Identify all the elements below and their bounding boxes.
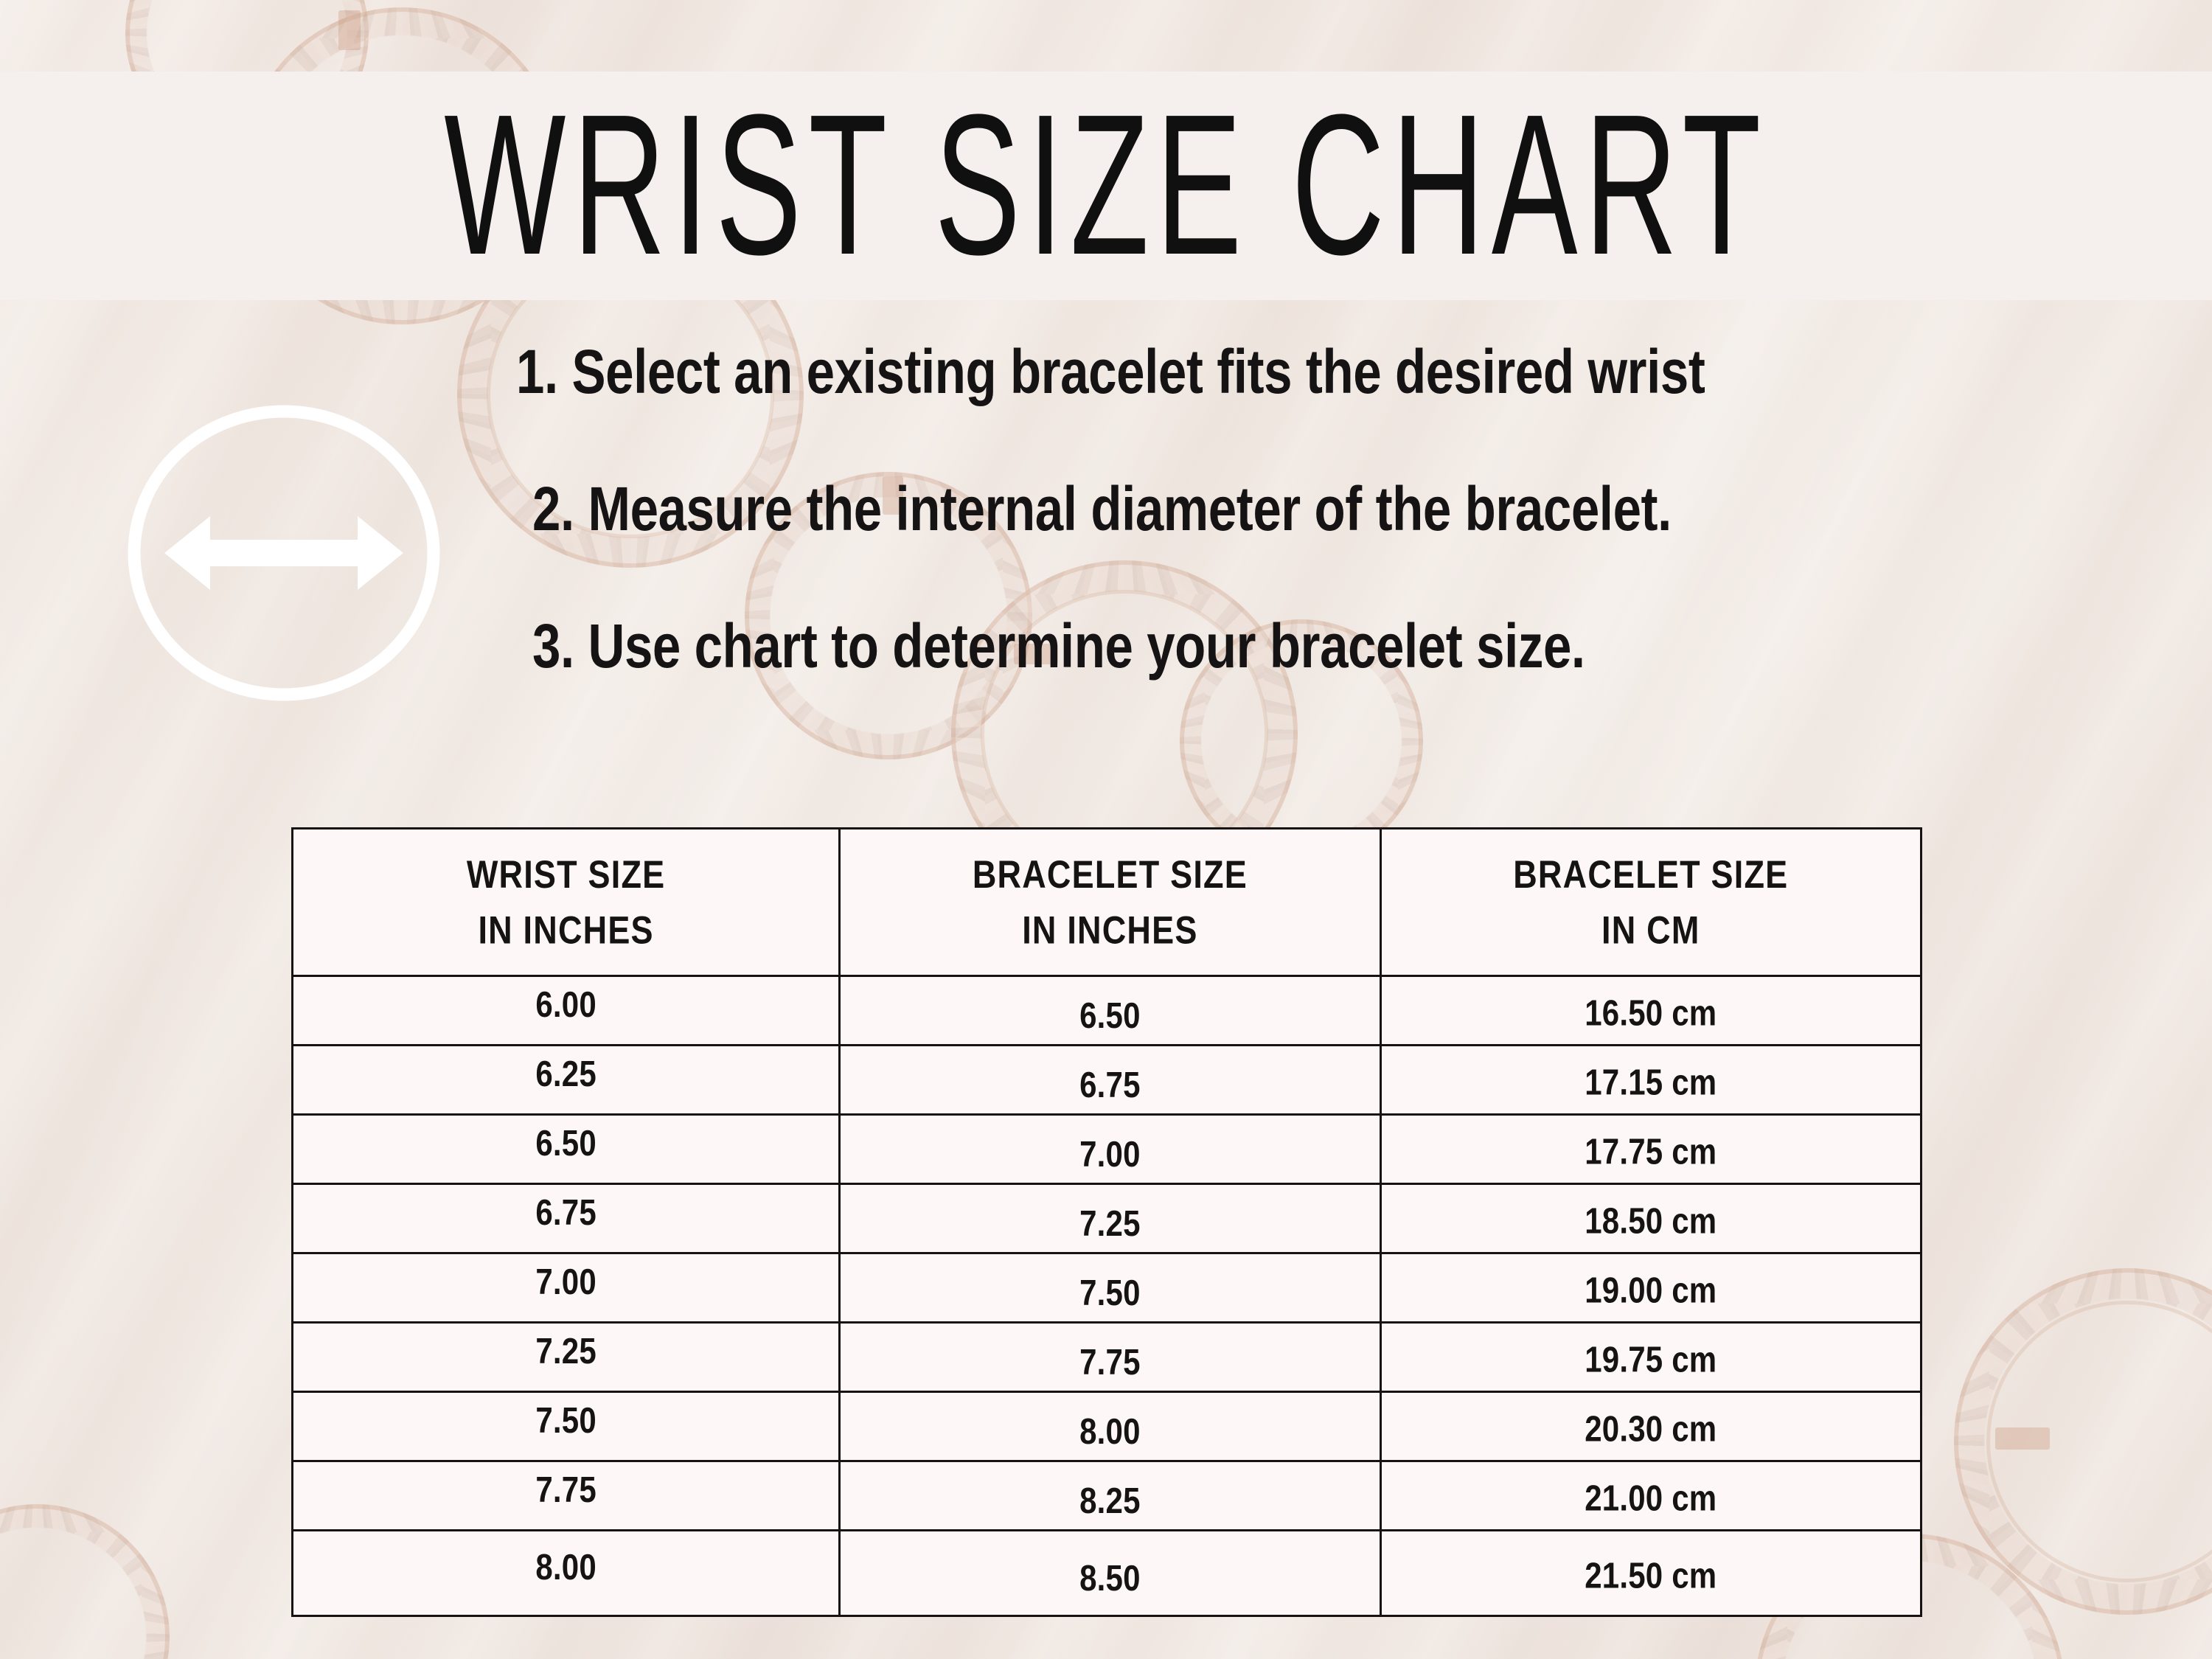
column-header-line-2: IN INCHES [293,902,838,958]
cell-wrist-size: 7.50 [293,1386,840,1467]
cell-wrist-size: 7.25 [293,1317,840,1397]
instruction-step-1: 1. Select an existing bracelet fits the … [516,341,2197,403]
size-chart-table-container: WRIST SIZE IN INCHES BRACELET SIZE IN IN… [291,827,1922,1603]
column-header-line-2: IN CM [1382,902,1920,958]
column-header-line-2: IN INCHES [841,902,1379,958]
cell-wrist-size: 6.00 [293,970,840,1051]
column-header-line-1: BRACELET SIZE [841,846,1379,902]
table-row: 7.007.5019.00 cm [293,1253,1921,1323]
cell-wrist-size: 6.25 [293,1040,840,1120]
cell-wrist-size: 6.50 [293,1109,840,1189]
column-header-line-1: BRACELET SIZE [1382,846,1920,902]
page-canvas: WRIST SIZE CHART 1. Select an existing b… [0,0,2212,1659]
cell-bracelet-size-cm: 17.15 cm [1380,1040,1921,1120]
double-headed-arrow-in-circle-icon [120,398,448,708]
cell-bracelet-size-inches: 7.00 [840,1109,1380,1189]
column-header-bracelet-size-cm: BRACELET SIZE IN CM [1380,815,1921,990]
cell-bracelet-size-cm: 21.50 cm [1380,1523,1921,1623]
instruction-step-2: 2. Measure the internal diameter of the … [516,478,2197,540]
table-row: 8.008.5021.50 cm [293,1531,1921,1616]
title-banner: WRIST SIZE CHART [0,72,2212,300]
table-row: 7.257.7519.75 cm [293,1323,1921,1392]
decorative-bracelet-ring [1954,1268,2212,1615]
cell-wrist-size: 8.00 [293,1523,840,1623]
table-row: 6.256.7517.15 cm [293,1046,1921,1115]
cell-bracelet-size-inches: 6.75 [840,1040,1380,1120]
cell-bracelet-size-inches: 7.25 [840,1178,1380,1259]
cell-bracelet-size-inches: 7.50 [840,1248,1380,1328]
cell-bracelet-size-inches: 6.50 [840,970,1380,1051]
cell-bracelet-size-cm: 20.30 cm [1380,1386,1921,1467]
table-header-row: WRIST SIZE IN INCHES BRACELET SIZE IN IN… [293,829,1921,976]
instruction-list: 1. Select an existing bracelet fits the … [516,347,2197,672]
decorative-bracelet-ring [0,1504,170,1659]
column-header-wrist-size: WRIST SIZE IN INCHES [293,815,840,990]
cell-bracelet-size-cm: 17.75 cm [1380,1109,1921,1189]
table-body: 6.006.5016.50 cm6.256.7517.15 cm6.507.00… [293,976,1921,1616]
cell-bracelet-size-inches: 7.75 [840,1317,1380,1397]
table-row: 6.757.2518.50 cm [293,1184,1921,1253]
column-header-line-1: WRIST SIZE [293,846,838,902]
instruction-step-3: 3. Use chart to determine your bracelet … [516,615,2197,677]
table-row: 6.006.5016.50 cm [293,976,1921,1046]
cell-bracelet-size-inches: 8.00 [840,1386,1380,1467]
table-row: 6.507.0017.75 cm [293,1115,1921,1184]
cell-bracelet-size-cm: 16.50 cm [1380,970,1921,1051]
cell-wrist-size: 6.75 [293,1178,840,1259]
size-chart-table: WRIST SIZE IN INCHES BRACELET SIZE IN IN… [291,827,1922,1617]
cell-bracelet-size-cm: 19.75 cm [1380,1317,1921,1397]
cell-wrist-size: 7.00 [293,1248,840,1328]
cell-bracelet-size-inches: 8.50 [840,1523,1380,1623]
table-header: WRIST SIZE IN INCHES BRACELET SIZE IN IN… [293,829,1921,976]
page-title: WRIST SIZE CHART [444,86,1767,286]
table-row: 7.508.0020.30 cm [293,1392,1921,1461]
table-row: 7.758.2521.00 cm [293,1461,1921,1531]
cell-bracelet-size-cm: 19.00 cm [1380,1248,1921,1328]
column-header-bracelet-size-inches: BRACELET SIZE IN INCHES [840,815,1380,990]
cell-bracelet-size-cm: 18.50 cm [1380,1178,1921,1259]
